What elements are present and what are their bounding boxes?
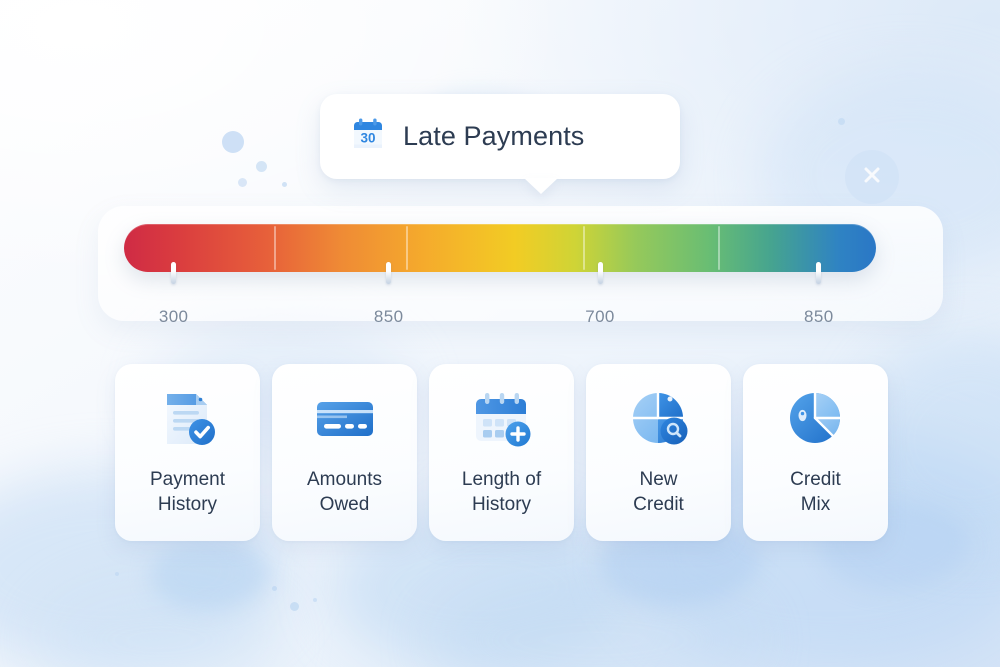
bg-blob	[40, 580, 280, 667]
card-label-line2: Mix	[790, 492, 841, 517]
credit-card-icon	[308, 382, 382, 456]
cross-slash-icon	[857, 160, 887, 195]
gauge-tick	[816, 262, 821, 284]
card-label: Length of History	[456, 467, 547, 517]
card-label-line1: New	[633, 467, 684, 492]
gauge-segment-divider	[274, 226, 276, 270]
card-label: Credit Mix	[784, 467, 847, 517]
gauge-tick-label-1: 850	[374, 307, 404, 327]
card-label: Amounts Owed	[301, 467, 388, 517]
card-label: New Credit	[627, 467, 690, 517]
bg-dot	[290, 602, 299, 611]
bg-dot	[272, 586, 277, 591]
gauge-tick	[386, 262, 391, 284]
gauge-tick-label-3: 850	[804, 307, 834, 327]
score-gauge[interactable]: 300 850 700 850	[124, 224, 876, 272]
card-credit-mix[interactable]: Credit Mix	[743, 364, 888, 541]
card-label-line2: Owed	[307, 492, 382, 517]
bg-dot	[115, 572, 119, 576]
gauge-tick	[598, 262, 603, 284]
credit-factor-cards: Payment History	[115, 364, 890, 541]
gauge-gradient-bar[interactable]	[124, 224, 876, 272]
corner-badge[interactable]	[845, 150, 899, 204]
gauge-segment-divider	[583, 226, 585, 270]
bg-dot	[222, 131, 244, 153]
pie-chart-icon	[779, 382, 853, 456]
card-label-line2: History	[150, 492, 225, 517]
card-label-line2: Credit	[633, 492, 684, 517]
bg-dot	[238, 178, 247, 187]
bg-dot	[256, 161, 267, 172]
gauge-tick	[171, 262, 176, 284]
card-length-of-history[interactable]: Length of History	[429, 364, 574, 541]
gauge-tick-label-0: 300	[159, 307, 189, 327]
bg-dot	[313, 598, 317, 602]
gauge-tick-label-2: 700	[585, 307, 615, 327]
card-label-line1: Amounts	[307, 467, 382, 492]
card-amounts-owed[interactable]: Amounts Owed	[272, 364, 417, 541]
tooltip-label: Late Payments	[403, 121, 584, 152]
bg-dot	[838, 118, 845, 125]
card-new-credit[interactable]: New Credit	[586, 364, 731, 541]
bg-dot	[282, 182, 287, 187]
credit-score-infographic: 300 850 700 850 30 Late Payments	[0, 0, 1000, 667]
gauge-segment-divider	[406, 226, 408, 270]
card-label-line1: Payment	[150, 467, 225, 492]
card-label: Payment History	[144, 467, 231, 517]
calendar-plus-icon	[465, 382, 539, 456]
calendar-30-icon: 30	[350, 116, 386, 157]
document-check-icon	[151, 382, 225, 456]
tooltip-arrow	[524, 178, 558, 194]
card-label-line1: Length of	[462, 467, 541, 492]
late-payments-tooltip[interactable]: 30 Late Payments	[320, 94, 680, 179]
svg-text:30: 30	[360, 131, 375, 146]
bg-blob	[430, 575, 760, 667]
gauge-segment-divider	[718, 226, 720, 270]
bg-splatter	[150, 540, 270, 610]
pie-chart-search-icon	[622, 382, 696, 456]
card-payment-history[interactable]: Payment History	[115, 364, 260, 541]
card-label-line2: History	[462, 492, 541, 517]
card-label-line1: Credit	[790, 467, 841, 492]
